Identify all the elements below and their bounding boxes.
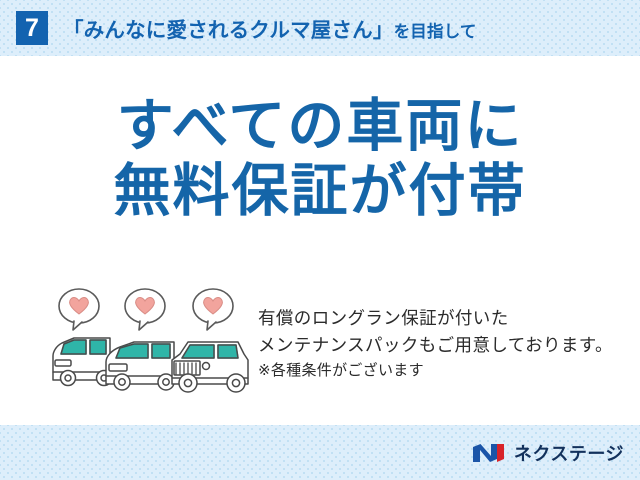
car-suv-jeep bbox=[172, 342, 248, 392]
body-copy: 有償のロングラン保証が付いた メンテナンスパックもご用意しております。 ※各種条… bbox=[258, 284, 640, 383]
nextage-n-logo-icon bbox=[472, 441, 506, 465]
car-minivan bbox=[106, 342, 174, 390]
body-copy-line-2: メンテナンスパックもご用意しております。 bbox=[258, 332, 640, 359]
header: 7 「みんなに愛されるクルマ屋さん」を目指して bbox=[0, 0, 640, 56]
body-copy-line-1: 有償のロングラン保証が付いた bbox=[258, 305, 640, 332]
headline-line-2: 無料保証が付帯 bbox=[0, 159, 640, 224]
header-title-tail: を目指して bbox=[394, 18, 477, 42]
header-title: 「みんなに愛されるクルマ屋さん」を目指して bbox=[63, 13, 477, 43]
slide-root: 7 「みんなに愛されるクルマ屋さん」を目指して すべての車両に 無料保証が付帯 bbox=[0, 0, 640, 480]
main-content: すべての車両に 無料保証が付帯 bbox=[0, 56, 640, 425]
headline-line-1: すべての車両に bbox=[0, 94, 640, 159]
headline-block: すべての車両に 無料保証が付帯 bbox=[0, 94, 640, 224]
footer-brand-logo: ネクステージ bbox=[472, 439, 624, 467]
car-kei-van bbox=[53, 338, 112, 386]
section-number-badge: 7 bbox=[16, 11, 48, 45]
cars-illustration bbox=[48, 284, 258, 404]
lower-content-row: 有償のロングラン保証が付いた メンテナンスパックもご用意しております。 ※各種条… bbox=[0, 284, 640, 409]
footer-brand-name: ネクステージ bbox=[514, 440, 624, 466]
body-copy-note: ※各種条件がございます bbox=[258, 359, 640, 383]
cars-illustration-svg bbox=[48, 284, 258, 404]
header-title-main: 「みんなに愛されるクルマ屋さん」 bbox=[63, 13, 394, 43]
